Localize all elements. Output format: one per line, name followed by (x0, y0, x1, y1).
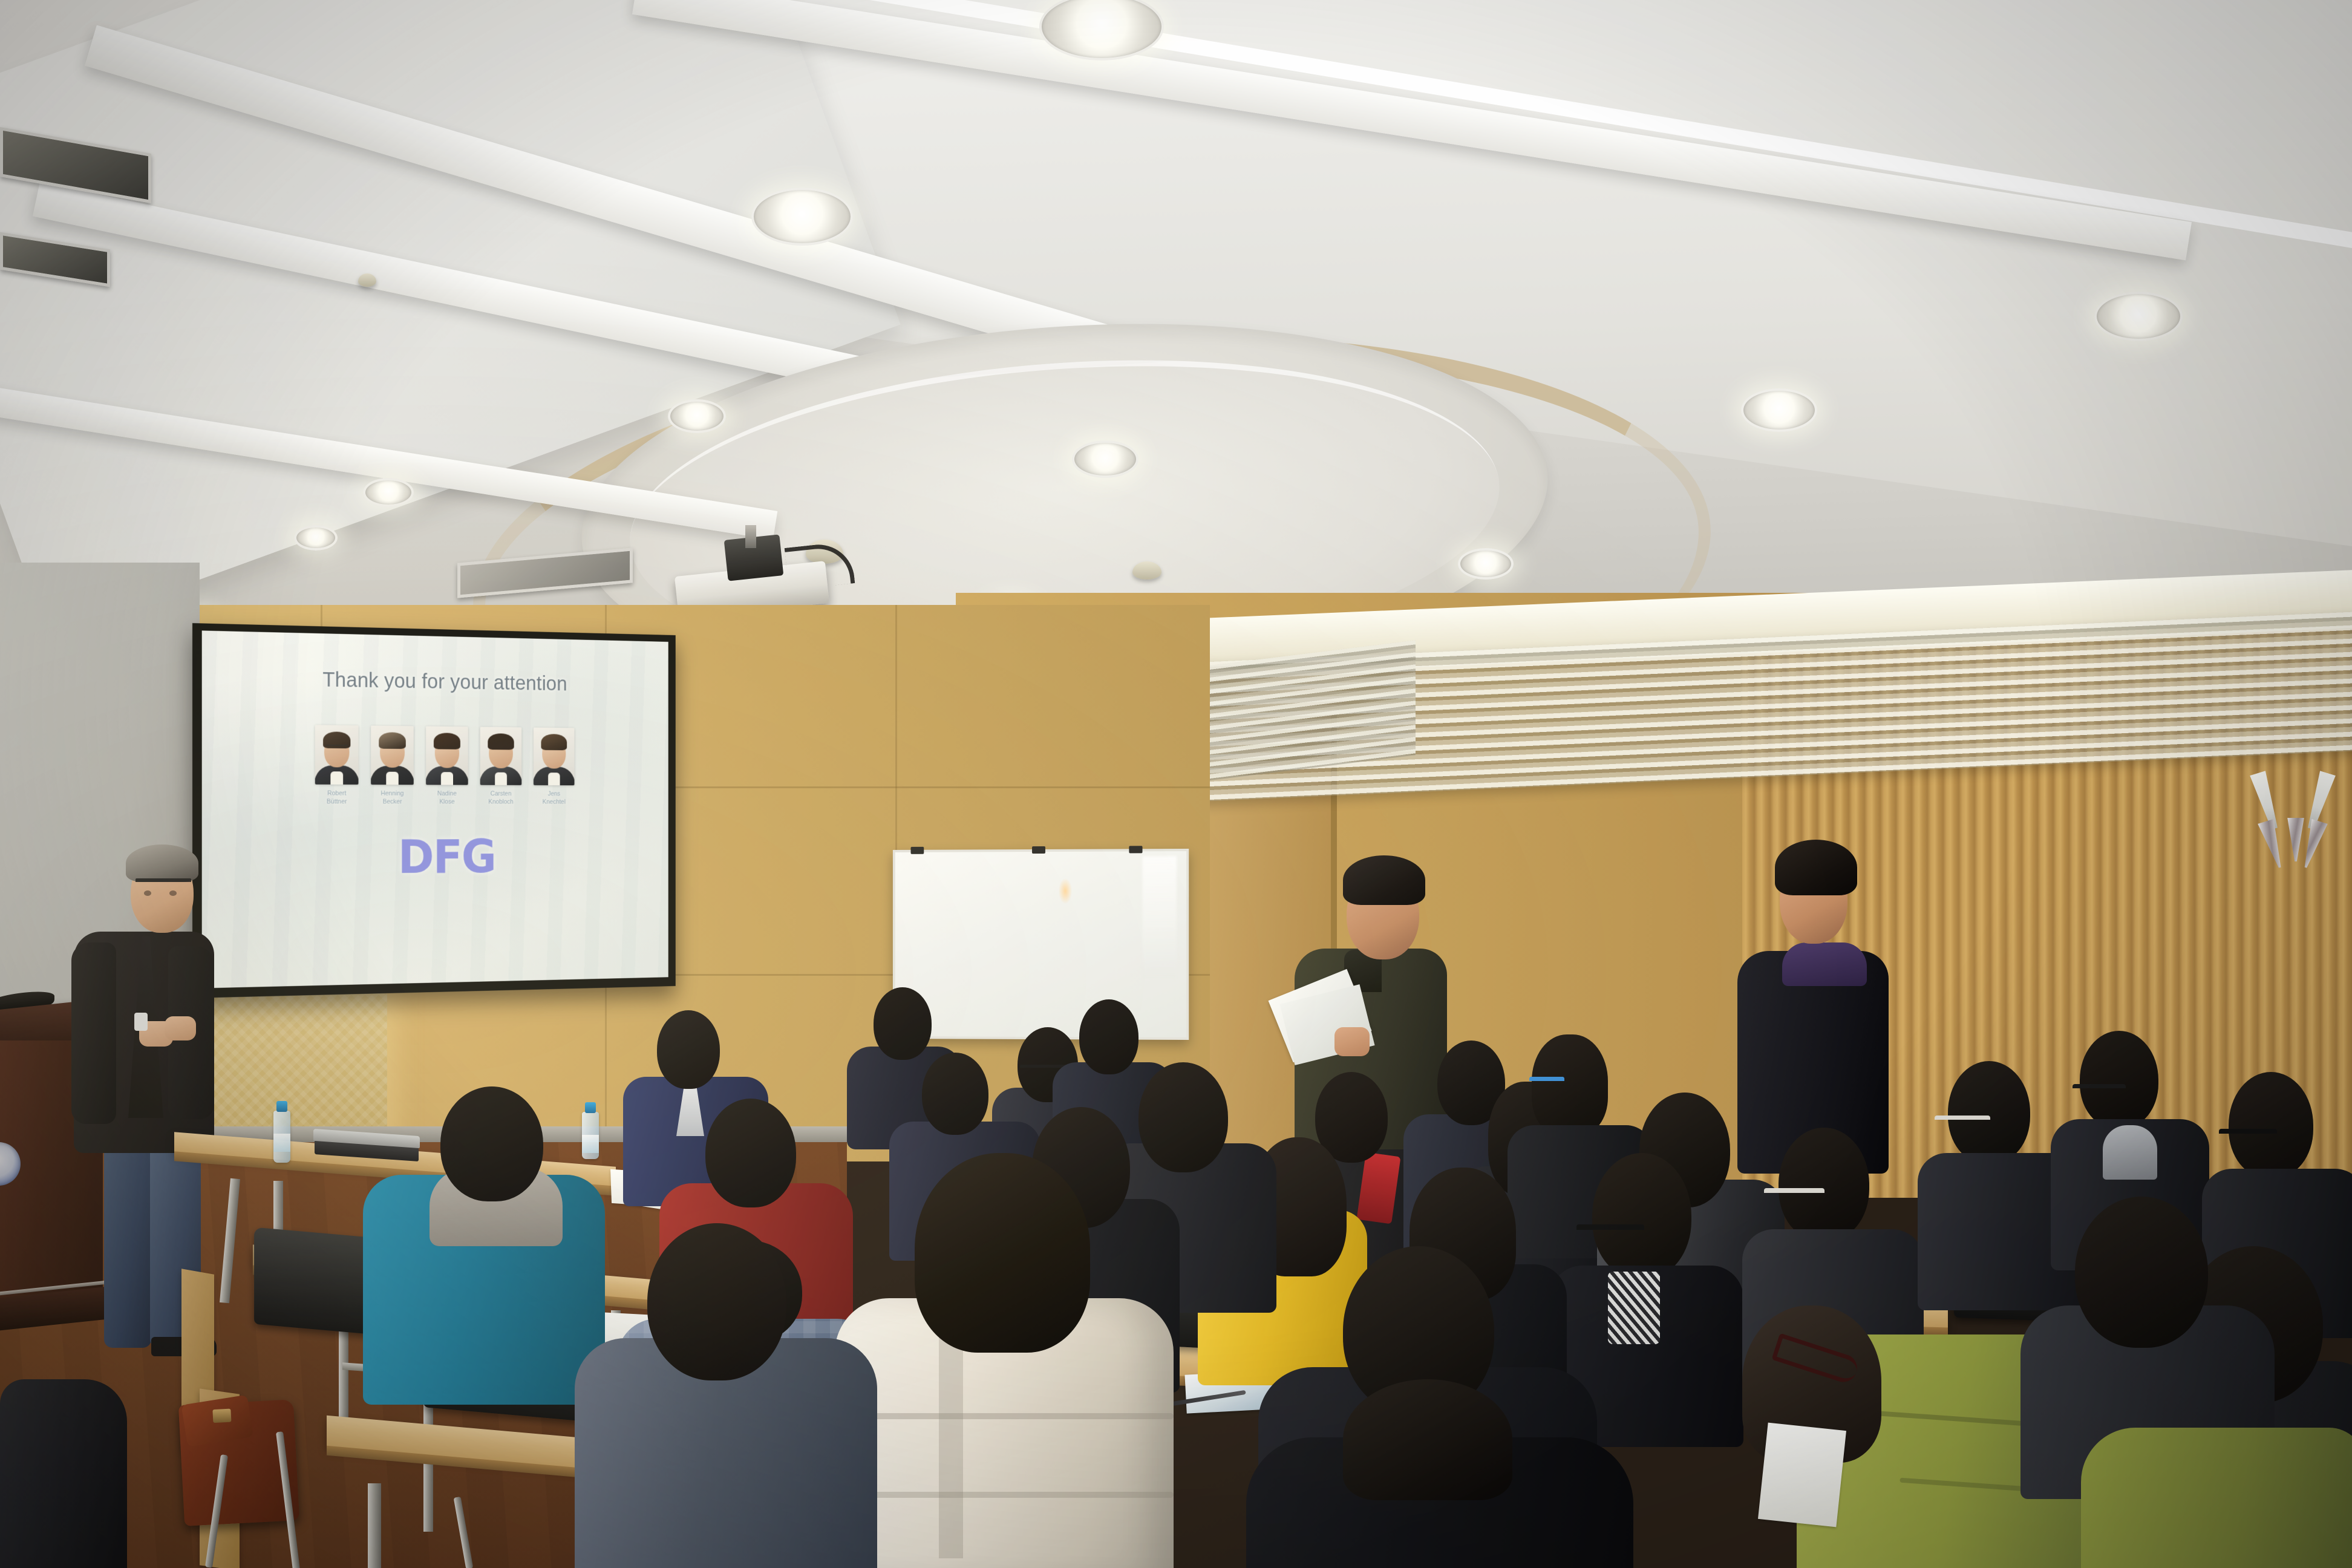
slide-portrait-name: CarstenKnobloch (480, 790, 522, 806)
whiteboard-clip (1129, 846, 1142, 853)
audience-head (1779, 1128, 1869, 1241)
standing-man-right (1730, 830, 1912, 1114)
portrait-last-name: Knobloch (480, 799, 522, 806)
audience-head (2075, 1197, 2208, 1348)
slide-portrait: NadineKlose (426, 727, 468, 806)
audience-head (647, 1223, 786, 1380)
downlight-icon (1458, 548, 1514, 580)
audience-glasses (1935, 1116, 1990, 1128)
audience-member-teal-hoodie (363, 1083, 605, 1373)
questioner-hair (1343, 855, 1425, 905)
projection-screen: Thank you for your attention RobertBüttn… (192, 623, 676, 998)
bottle-label (273, 1134, 290, 1152)
downlight-icon (363, 478, 414, 507)
presenter-eye (169, 890, 177, 896)
puffer-seam (835, 1413, 1174, 1419)
audience-long-hair (915, 1153, 1090, 1353)
audience-member-white-puffer (835, 1153, 1174, 1568)
olive-jacket (2081, 1428, 2352, 1568)
audience-member (2051, 1028, 2196, 1222)
slide-portrait: HenningBecker (371, 725, 414, 806)
presenter-hair (126, 844, 198, 882)
slide-portrait-photo (426, 727, 468, 785)
water-bottle[interactable] (273, 1111, 290, 1163)
portrait-shirt (330, 771, 343, 785)
slide-portrait: JensKnechtel (534, 728, 575, 806)
audience-head (1343, 1379, 1512, 1500)
downlight-icon (294, 525, 338, 550)
portrait-glasses-icon (326, 745, 348, 749)
slide-portrait-name: JensKnechtel (534, 791, 575, 806)
presenter-hand (165, 1016, 196, 1040)
blue-glasses (1529, 1077, 1564, 1086)
slide-portrait-name: HenningBecker (371, 790, 414, 806)
questioner-hand (1334, 1027, 1370, 1056)
portrait-last-name: Klose (426, 798, 468, 806)
slide-portrait-photo (534, 728, 575, 786)
portrait-last-name: Becker (371, 798, 414, 806)
dfg-logo: DFG (398, 831, 495, 884)
portrait-last-name: Büttner (315, 798, 359, 806)
screen-surface: Thank you for your attention RobertBüttn… (202, 630, 668, 988)
slide-portrait-photo (371, 725, 414, 785)
audience-member-grey-coat (575, 1223, 877, 1568)
audience-head (1948, 1061, 2030, 1164)
presenter-cuff (134, 1013, 148, 1031)
puffer-seam (835, 1492, 1174, 1498)
downlight-icon (1741, 388, 1817, 432)
audience-member-left-front (0, 1355, 133, 1568)
projector-rod (745, 525, 756, 548)
presenter-glasses (136, 878, 191, 892)
portrait-shirt (386, 772, 398, 785)
whiteboard-clip (1032, 846, 1045, 854)
audience-head (922, 1053, 988, 1135)
smoke-detector-icon (358, 273, 376, 287)
paper-sheet[interactable] (1758, 1423, 1846, 1527)
downlight-icon (668, 399, 726, 433)
portrait-hair (379, 732, 406, 749)
bag-buckle (212, 1409, 231, 1423)
wall-sconce (2254, 772, 2345, 875)
audience-head (2080, 1031, 2158, 1129)
checkered-collar (1608, 1272, 1660, 1344)
slide-portrait: CarstenKnobloch (480, 727, 522, 806)
bottle-cap (276, 1101, 287, 1112)
portrait-hair (488, 733, 514, 750)
portrait-shirt (441, 772, 453, 785)
audience-torso (0, 1379, 127, 1568)
standing-man-hood (1782, 942, 1867, 986)
slide-portrait-name: RobertBüttner (315, 790, 359, 806)
audience-head (705, 1099, 796, 1207)
sconce-chrome-icon (2287, 818, 2305, 861)
slide-portrait-name: NadineKlose (426, 790, 468, 806)
standing-man-hair (1775, 840, 1857, 895)
presenter-eye (144, 890, 151, 896)
whiteboard-reflection (1143, 856, 1177, 978)
desk-leg (368, 1483, 381, 1568)
audience-member-black-coat-front (1246, 1379, 1621, 1568)
audience-head (440, 1086, 543, 1201)
portrait-first-name: Robert (315, 790, 359, 799)
slide-content: Thank you for your attention RobertBüttn… (229, 645, 653, 969)
presenter-arm (71, 942, 116, 1124)
sconce-chrome-icon (2257, 818, 2288, 870)
lecture-hall-photo: Thank you for your attention RobertBüttn… (0, 0, 2352, 1568)
portrait-last-name: Knechtel (534, 799, 575, 806)
slide-portrait-row: RobertBüttnerHenningBeckerNadineKloseCar… (315, 725, 575, 806)
smoke-detector-icon (1132, 561, 1161, 580)
portrait-first-name: Henning (371, 790, 414, 799)
portrait-shirt (495, 773, 507, 785)
audience-head (657, 1010, 720, 1089)
downlight-icon (751, 188, 853, 246)
slide-portrait-photo (315, 725, 359, 785)
portrait-hair (434, 733, 460, 749)
audience-glasses (2219, 1129, 2277, 1142)
audience-head (1592, 1153, 1691, 1279)
audience-glasses (2073, 1084, 2126, 1096)
audience-glasses (1764, 1188, 1824, 1201)
portrait-hair (541, 734, 567, 750)
portrait-first-name: Carsten (480, 790, 522, 798)
portrait-shirt (548, 773, 560, 785)
grey-hood (2103, 1125, 2157, 1180)
whiteboard-clip (910, 847, 924, 854)
slide-portrait: RobertBüttner (315, 725, 359, 806)
portrait-first-name: Nadine (426, 790, 468, 798)
audience-glasses (1576, 1224, 1644, 1239)
audience-member-olive-right-edge (2081, 1391, 2352, 1568)
downlight-icon (1072, 440, 1138, 478)
slide-portrait-photo (480, 727, 522, 785)
audience-head (2229, 1072, 2313, 1178)
whiteboard-light-spot (1059, 878, 1072, 904)
portrait-first-name: Jens (534, 791, 575, 799)
slide-title: Thank you for your attention (322, 668, 567, 696)
downlight-icon (2094, 292, 2183, 341)
